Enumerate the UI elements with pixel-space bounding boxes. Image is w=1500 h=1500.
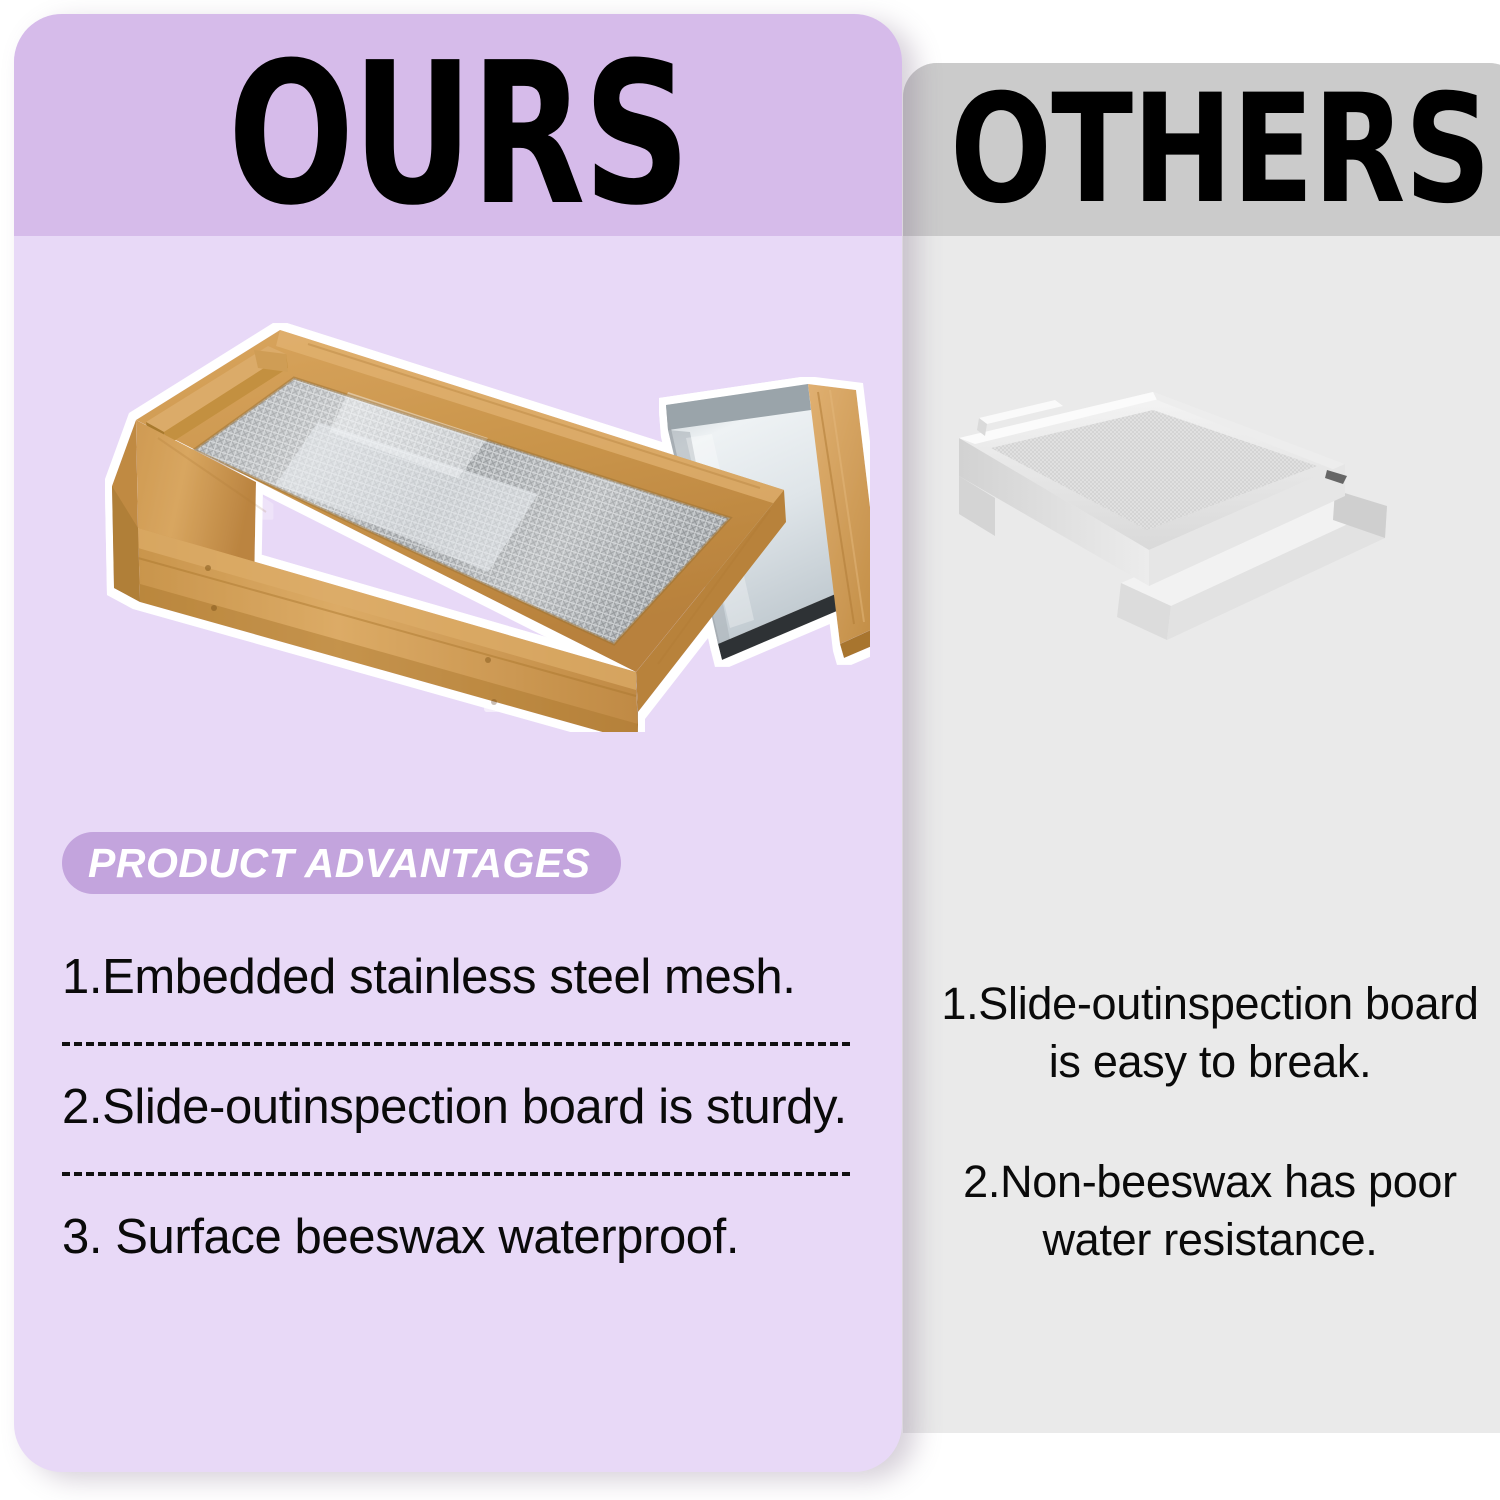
- others-product-image: [935, 378, 1445, 668]
- ours-advantage-item: 3. Surface beeswax waterproof.: [62, 1206, 862, 1268]
- list-divider: [62, 1172, 850, 1176]
- others-title: OTHERS: [950, 75, 1326, 225]
- comparison-infographic: OTHERS: [0, 0, 1500, 1500]
- others-drawback-item: 1.Slide-outinspection board is easy to b…: [935, 975, 1485, 1091]
- ours-product-image: [18, 272, 870, 732]
- ours-title: OURS: [121, 42, 796, 228]
- others-drawbacks-list: 1.Slide-outinspection board is easy to b…: [935, 975, 1485, 1269]
- ours-advantage-item: 2.Slide-outinspection board is sturdy.: [62, 1076, 862, 1138]
- ours-advantage-item: 1.Embedded stainless steel mesh.: [62, 946, 862, 1008]
- product-advantages-label: PRODUCT ADVANTAGES: [88, 840, 591, 887]
- ours-advantages-list: 1.Embedded stainless steel mesh. 2.Slide…: [62, 946, 862, 1268]
- product-advantages-badge: PRODUCT ADVANTAGES: [62, 832, 621, 894]
- others-drawback-item: 2.Non-beeswax has poor water resistance.: [935, 1153, 1485, 1269]
- list-divider: [62, 1042, 850, 1046]
